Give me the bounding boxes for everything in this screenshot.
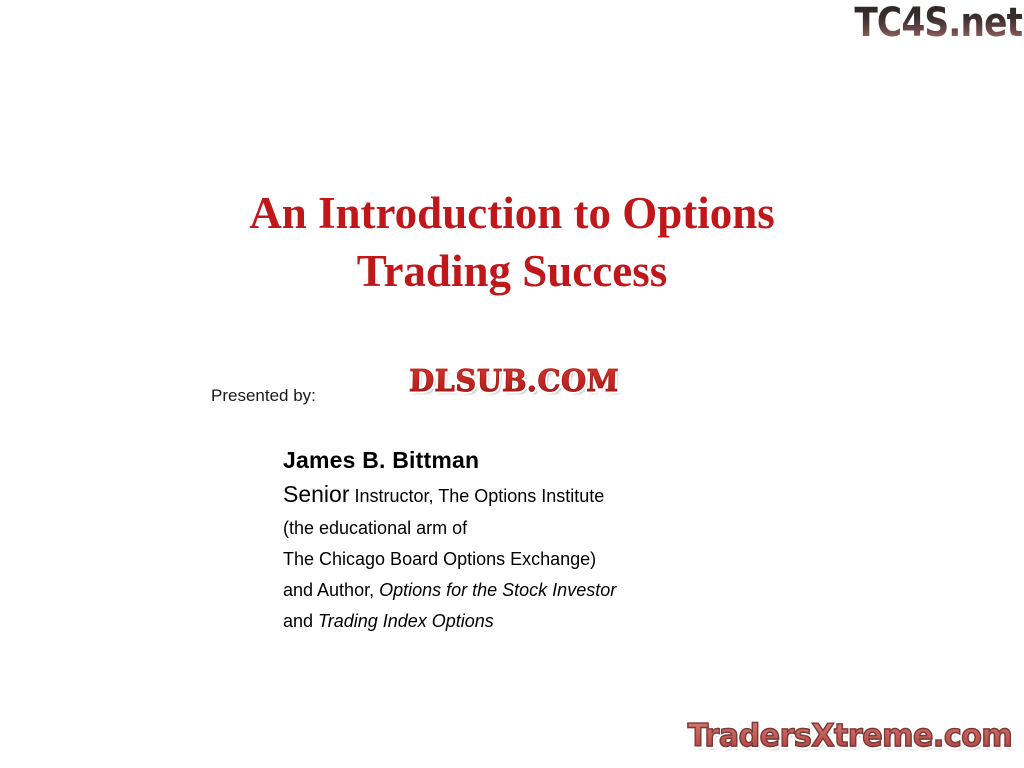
slide-title-line-1: An Introduction to Options	[0, 184, 1024, 242]
book-title-2: Trading Index Options	[318, 611, 494, 631]
watermark-tradersxtreme-fill: TradersXtreme.com	[681, 714, 1019, 758]
presenter-role-lead: Senior	[283, 481, 349, 507]
presenter-affiliation-line-1: (the educational arm of	[283, 513, 616, 544]
presenter-author-line-1: and Author, Options for the Stock Invest…	[283, 575, 616, 606]
author-prefix-2: and	[283, 611, 318, 631]
watermark-dlsub-fill: DLSUB.COM	[371, 362, 656, 402]
presenter-block: James B. Bittman Senior Instructor, The …	[283, 444, 616, 637]
watermark-tc4s: TC4S.net	[854, 1, 1022, 45]
slide-title-line-2: Trading Success	[0, 242, 1024, 300]
presenter-author-line-2: and Trading Index Options	[283, 606, 616, 637]
presenter-role-rest: Instructor, The Options Institute	[349, 486, 604, 506]
presented-by-label: Presented by:	[211, 385, 316, 407]
presentation-slide: TC4S.net An Introduction to Options Trad…	[0, 0, 1024, 768]
watermark-dlsub: DLSUB.COM DLSUB.COM DLSUB.COM	[366, 362, 662, 404]
presenter-affiliation-line-2: The Chicago Board Options Exchange)	[283, 544, 616, 575]
presenter-role: Senior Instructor, The Options Institute	[283, 477, 616, 513]
author-prefix-1: and Author,	[283, 580, 379, 600]
presenter-name: James B. Bittman	[283, 444, 616, 477]
slide-title: An Introduction to Options Trading Succe…	[0, 184, 1024, 300]
watermark-tradersxtreme: TradersXtreme.com TradersXtreme.com Trad…	[676, 714, 1024, 762]
book-title-1: Options for the Stock Investor	[379, 580, 616, 600]
